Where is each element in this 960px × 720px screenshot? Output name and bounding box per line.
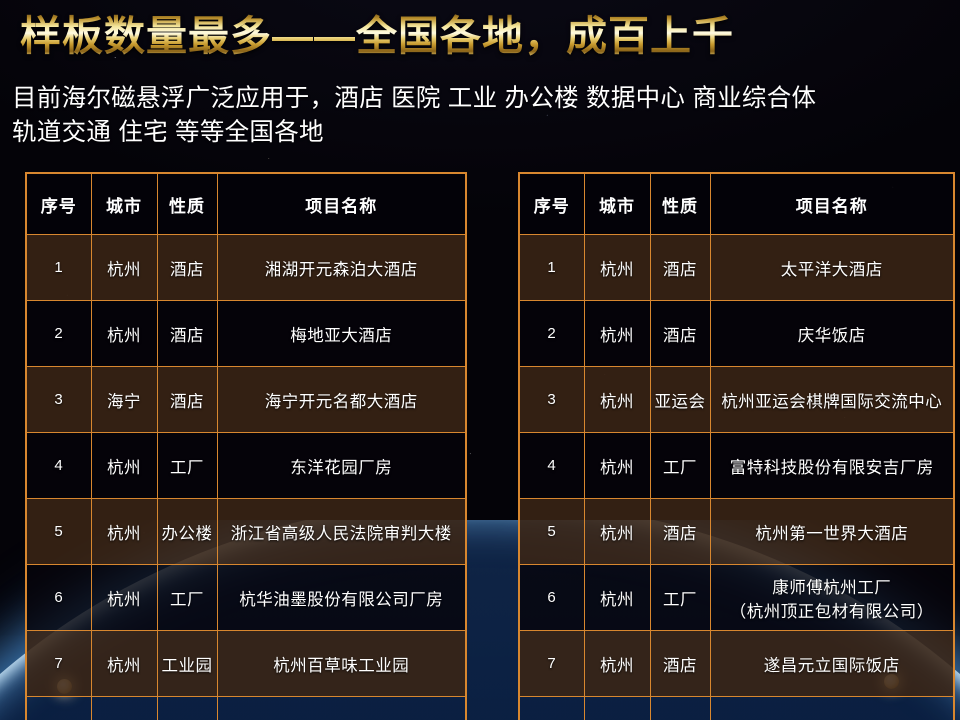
- cell-no: 4: [26, 433, 91, 499]
- table-left-head: 序号 城市 性质 项目名称: [26, 173, 466, 235]
- cell-no: 3: [26, 367, 91, 433]
- table-row: 3 海宁 酒店 海宁开元名都大酒店: [26, 367, 466, 433]
- cell-type: 酒店: [650, 499, 710, 565]
- cell-city: 杭州: [584, 301, 650, 367]
- cell-type: 酒店: [157, 235, 217, 301]
- cell-project: 庆华饭店: [710, 301, 954, 367]
- project-table-left: 序号 城市 性质 项目名称 1 杭州 酒店 湘湖开元森泊大酒店 2 杭州 酒店 …: [25, 172, 467, 720]
- cell-type: 酒店: [650, 235, 710, 301]
- table-header-row: 序号 城市 性质 项目名称: [519, 173, 954, 235]
- table-row: 2 杭州 酒店 梅地亚大酒店: [26, 301, 466, 367]
- cell-no: 5: [26, 499, 91, 565]
- cell-no: 7: [26, 631, 91, 697]
- header-cell-project: 项目名称: [710, 173, 954, 235]
- table-row: 2 杭州 酒店 庆华饭店: [519, 301, 954, 367]
- cell-project: 富特科技股份有限安吉厂房: [710, 433, 954, 499]
- table-row: 7 杭州 工业园 杭州百草味工业园: [26, 631, 466, 697]
- cell-project: 海宁开元名都大酒店: [217, 367, 466, 433]
- table-row: 5 杭州 酒店 杭州第一世界大酒店: [519, 499, 954, 565]
- cell-type: 酒店: [650, 697, 710, 720]
- cell-city: 杭州: [584, 433, 650, 499]
- cell-type: 工厂: [157, 697, 217, 720]
- table-row: 3 杭州 亚运会 杭州亚运会棋牌国际交流中心: [519, 367, 954, 433]
- header-cell-type: 性质: [650, 173, 710, 235]
- cell-city: 杭州: [91, 631, 157, 697]
- page-title: 样板数量最多——全国各地，成百上千: [20, 12, 734, 61]
- cell-project: 真和大酒店: [710, 697, 954, 720]
- header-cell-no: 序号: [26, 173, 91, 235]
- cell-no: 6: [519, 565, 584, 631]
- cell-project: 杭华油墨股份有限公司厂房: [217, 565, 466, 631]
- header-cell-city: 城市: [584, 173, 650, 235]
- header-cell-project: 项目名称: [217, 173, 466, 235]
- cell-project: 梅地亚大酒店: [217, 301, 466, 367]
- cell-project-line-1: 康师傅杭州工厂: [714, 574, 951, 598]
- table-row: 5 杭州 办公楼 浙江省高级人民法院审判大楼: [26, 499, 466, 565]
- cell-no: 2: [26, 301, 91, 367]
- cell-type: 工厂: [157, 565, 217, 631]
- cell-no: 8: [519, 697, 584, 720]
- subtitle-text: 目前海尔磁悬浮广泛应用于，酒店 医院 工业 办公楼 数据中心 商业综合体 轨道交…: [12, 82, 952, 150]
- cell-project: 杭州亚运会棋牌国际交流中心: [710, 367, 954, 433]
- cell-no: 7: [519, 631, 584, 697]
- cell-type: 工厂: [650, 565, 710, 631]
- cell-project-line-2: （杭州顶正包材有限公司）: [714, 598, 951, 622]
- cell-city: 海宁: [91, 367, 157, 433]
- cell-no: 3: [519, 367, 584, 433]
- cell-no: 6: [26, 565, 91, 631]
- table-header-row: 序号 城市 性质 项目名称: [26, 173, 466, 235]
- cell-city: 杭州: [91, 301, 157, 367]
- cell-project: 康师傅杭州工厂 （杭州顶正包材有限公司）: [710, 565, 954, 631]
- cell-type: 工业园: [157, 631, 217, 697]
- cell-project: 太平洋大酒店: [710, 235, 954, 301]
- project-table-right: 序号 城市 性质 项目名称 1 杭州 酒店 太平洋大酒店 2 杭州 酒店 庆华饭…: [518, 172, 955, 720]
- cell-city: 杭州: [91, 433, 157, 499]
- cell-city: 杭州: [584, 631, 650, 697]
- cell-city: 杭州: [91, 235, 157, 301]
- cell-city: 杭州: [91, 499, 157, 565]
- cell-city: 杭州: [91, 697, 157, 720]
- cell-project: 遂昌元立国际饭店: [710, 631, 954, 697]
- cell-no: 2: [519, 301, 584, 367]
- cell-no: 4: [519, 433, 584, 499]
- cell-project: 浙江省高级人民法院审判大楼: [217, 499, 466, 565]
- table-row: 4 杭州 工厂 东洋花园厂房: [26, 433, 466, 499]
- table-row: 7 杭州 酒店 遂昌元立国际饭店: [519, 631, 954, 697]
- subtitle-line-2: 轨道交通 住宅 等等全国各地: [12, 116, 952, 150]
- header-cell-city: 城市: [91, 173, 157, 235]
- cell-city: 杭州: [91, 565, 157, 631]
- cell-no: 8: [26, 697, 91, 720]
- table-row: 1 杭州 酒店 太平洋大酒店: [519, 235, 954, 301]
- cell-no: 1: [26, 235, 91, 301]
- cell-city: 杭州: [584, 367, 650, 433]
- cell-type: 酒店: [650, 631, 710, 697]
- cell-type: 酒店: [157, 301, 217, 367]
- cell-type: 亚运会: [650, 367, 710, 433]
- table-row: 1 杭州 酒店 湘湖开元森泊大酒店: [26, 235, 466, 301]
- table-right-head: 序号 城市 性质 项目名称: [519, 173, 954, 235]
- cell-project: 浙江华正新材: [217, 697, 466, 720]
- cell-type: 工厂: [157, 433, 217, 499]
- cell-project: 东洋花园厂房: [217, 433, 466, 499]
- cell-type: 办公楼: [157, 499, 217, 565]
- table-row: 6 杭州 工厂 杭华油墨股份有限公司厂房: [26, 565, 466, 631]
- header-cell-no: 序号: [519, 173, 584, 235]
- cell-city: 杭州: [584, 235, 650, 301]
- cell-type: 酒店: [157, 367, 217, 433]
- table-row: 8 宁波 酒店 真和大酒店: [519, 697, 954, 720]
- cell-project: 杭州第一世界大酒店: [710, 499, 954, 565]
- cell-city: 宁波: [584, 697, 650, 720]
- cell-project: 杭州百草味工业园: [217, 631, 466, 697]
- cell-no: 1: [519, 235, 584, 301]
- table-row: 6 杭州 工厂 康师傅杭州工厂 （杭州顶正包材有限公司）: [519, 565, 954, 631]
- subtitle-line-1: 目前海尔磁悬浮广泛应用于，酒店 医院 工业 办公楼 数据中心 商业综合体: [12, 82, 952, 116]
- table-row: 4 杭州 工厂 富特科技股份有限安吉厂房: [519, 433, 954, 499]
- table-row: 8 杭州 工厂 浙江华正新材: [26, 697, 466, 720]
- cell-type: 工厂: [650, 433, 710, 499]
- cell-project: 湘湖开元森泊大酒店: [217, 235, 466, 301]
- table-left-body: 1 杭州 酒店 湘湖开元森泊大酒店 2 杭州 酒店 梅地亚大酒店 3 海宁 酒店…: [26, 235, 466, 720]
- cell-no: 5: [519, 499, 584, 565]
- cell-city: 杭州: [584, 499, 650, 565]
- header-cell-type: 性质: [157, 173, 217, 235]
- slide-canvas: 样板数量最多——全国各地，成百上千 目前海尔磁悬浮广泛应用于，酒店 医院 工业 …: [0, 0, 960, 720]
- cell-type: 酒店: [650, 301, 710, 367]
- cell-city: 杭州: [584, 565, 650, 631]
- table-right-body: 1 杭州 酒店 太平洋大酒店 2 杭州 酒店 庆华饭店 3 杭州 亚运会 杭州亚…: [519, 235, 954, 720]
